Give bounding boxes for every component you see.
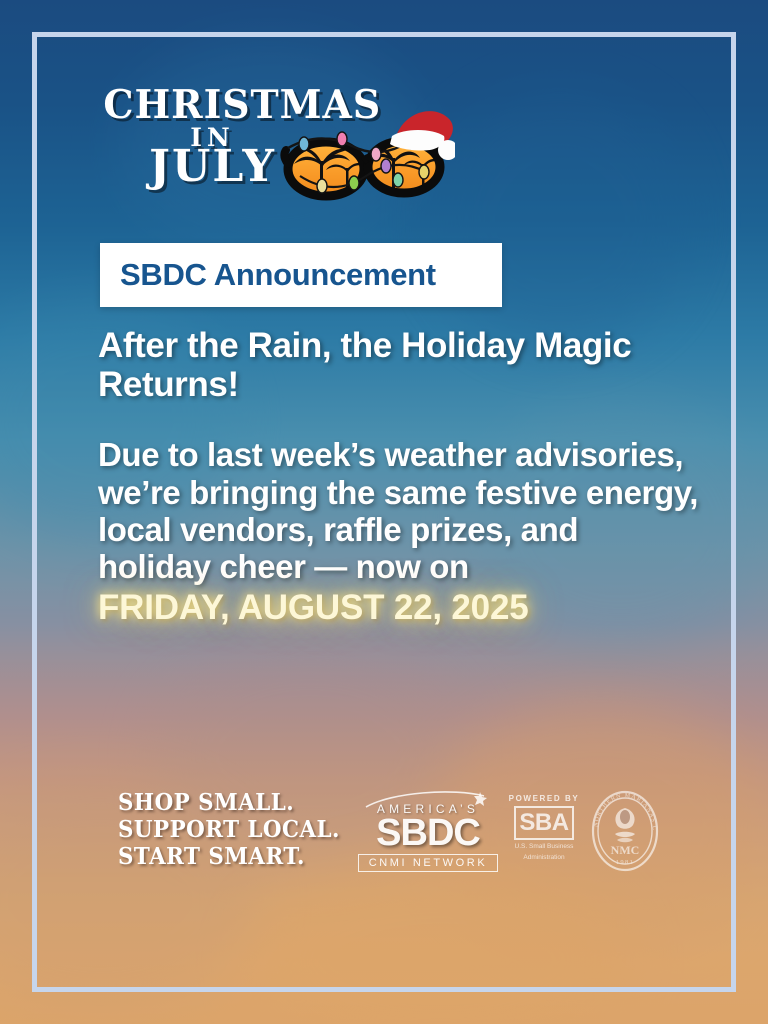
tagline-line-3: START SMART. <box>118 844 340 871</box>
sbdc-network-label: CNMI NETWORK <box>358 854 498 872</box>
footer-logo-row: SHOP SMALL. SUPPORT LOCAL. START SMART. … <box>0 782 768 892</box>
announcement-copy: After the Rain, the Holiday Magic Return… <box>98 326 698 627</box>
sba-powered-by-label: POWERED BY <box>508 794 580 803</box>
nmc-seal-icon: NORTHERN MARIANAS COLLEGE NMC 1981 <box>589 788 661 874</box>
christmas-in-july-logo: CHRISTMAS IN JULY <box>100 88 450 218</box>
tagline-line-2: SUPPORT LOCAL. <box>118 817 340 844</box>
sbdc-swoosh-icon <box>358 790 498 810</box>
bg-blob <box>430 90 690 350</box>
sba-wordmark: SBA <box>516 811 572 835</box>
paragraph-text: Due to last week’s weather advisories, w… <box>98 436 698 627</box>
banner-label: SBDC Announcement <box>100 257 436 293</box>
headline-text: After the Rain, the Holiday Magic Return… <box>98 326 698 404</box>
sba-sub-line-2: Administration <box>508 854 580 862</box>
shop-small-tagline: SHOP SMALL. SUPPORT LOCAL. START SMART. <box>118 790 340 871</box>
event-date: FRIDAY, AUGUST 22, 2025 <box>98 588 698 628</box>
paragraph-body: Due to last week’s weather advisories, w… <box>98 436 698 585</box>
poster-canvas: CHRISTMAS IN JULY <box>0 0 768 1024</box>
tagline-line-1: SHOP SMALL. <box>118 790 340 817</box>
nmc-abbrev: NMC <box>611 843 640 857</box>
nmc-year: 1981 <box>616 859 635 866</box>
sbdc-announcement-banner: SBDC Announcement <box>100 243 502 307</box>
americas-sbdc-logo: AMERICA’S SBDC CNMI NETWORK <box>358 790 498 868</box>
sba-box-outline: SBA <box>514 806 574 840</box>
sbdc-wordmark: SBDC <box>358 816 498 851</box>
sba-logo: POWERED BY SBA U.S. Small Business Admin… <box>508 794 580 866</box>
nmc-seal: NORTHERN MARIANAS COLLEGE NMC 1981 <box>589 788 661 874</box>
sba-sub-line-1: U.S. Small Business <box>508 843 580 851</box>
sunglasses-santa-hat-icon <box>280 106 455 206</box>
